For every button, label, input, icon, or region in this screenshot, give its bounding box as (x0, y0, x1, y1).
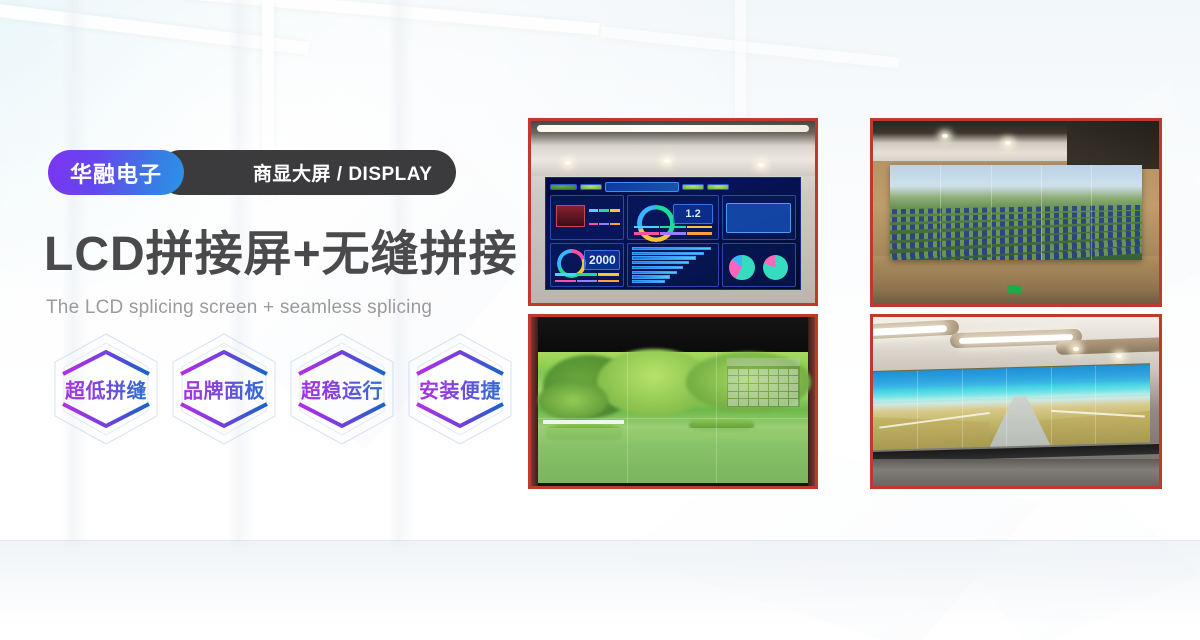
chart-legend (634, 225, 713, 237)
screen-side-bezel (808, 317, 815, 486)
dashboard-card-donut-kpi: 1.2 (627, 195, 718, 239)
pie-chart-group (725, 253, 792, 283)
photo-beach-boardwalk-video-wall (870, 314, 1162, 489)
feature-badge-3: 安装便捷 (401, 330, 519, 448)
ceiling-light-strip (537, 125, 810, 132)
sea-horizon (873, 382, 1150, 402)
calendar-title (727, 358, 800, 366)
dashboard-card-media (550, 195, 624, 239)
feature-badge-label: 超低拼缝 (47, 375, 165, 404)
video-wall-screen: 1.2 2000 (545, 177, 801, 290)
downlight (942, 134, 948, 138)
downlight (758, 163, 764, 167)
pie-chart (763, 255, 788, 280)
dashboard-tab (682, 184, 704, 190)
calendar-overlay (727, 358, 800, 407)
downlight (1005, 141, 1011, 145)
chart-legend (555, 272, 619, 284)
page-subtitle: The LCD splicing screen + seamless splic… (46, 297, 432, 319)
lakeside-railing (543, 420, 624, 424)
feature-badge-2: 超稳运行 (283, 330, 401, 448)
dashboard-header (550, 181, 796, 193)
page-title: LCD拼接屏+无缝拼接 (44, 228, 518, 282)
banner-copy-block: 商显大屏 / DISPLAY 华融电子 LCD拼接屏+无缝拼接 The LCD … (0, 0, 520, 640)
dashboard-tab (550, 184, 577, 190)
feature-badge-row: 超低拼缝 品牌面板 超稳运行 (47, 330, 519, 448)
ceiling-dark-panel (1067, 121, 1159, 169)
kpi-value: 1.2 (673, 204, 713, 224)
feature-badge-label: 品牌面板 (165, 375, 283, 404)
feature-badge-label: 超稳运行 (283, 375, 401, 404)
video-wall-screen (873, 363, 1150, 450)
photo-willow-lake-video-wall (528, 314, 818, 489)
dashboard-tab (707, 184, 729, 190)
video-wall-screen (890, 165, 1142, 260)
dashboard-title-bar (605, 182, 679, 192)
dashboard-card-flow (722, 195, 796, 239)
bar-chart (632, 247, 714, 284)
wall-above-screen (531, 317, 815, 352)
dashboard-card-bars (627, 243, 718, 288)
dashboard-card-grid: 1.2 2000 (550, 195, 796, 287)
photo-dashboard-video-wall: 1.2 2000 (528, 118, 818, 306)
video-wall-screen (538, 352, 808, 482)
pie-chart (729, 255, 754, 280)
dashboard-card-pies (722, 243, 796, 288)
ceiling (531, 121, 815, 176)
dashboard-tab (580, 184, 602, 190)
exit-sign-icon (1007, 285, 1021, 293)
lake-water (538, 428, 808, 483)
floor (873, 459, 1159, 486)
flow-diagram (726, 203, 791, 233)
feature-badge-label: 安装便捷 (401, 375, 519, 404)
brand-badge: 华融电子 (48, 150, 184, 195)
wood-wall-lower (873, 256, 1159, 304)
screen-side-bezel (531, 317, 538, 486)
brand-badge-row: 商显大屏 / DISPLAY 华融电子 (48, 150, 184, 195)
tree-foliage (538, 381, 608, 420)
dune-grass (873, 406, 990, 450)
ceiling-beam (735, 0, 746, 130)
video-wall-frame (890, 165, 1142, 260)
category-badge: 商显大屏 / DISPLAY (158, 150, 456, 195)
feature-badge-0: 超低拼缝 (47, 330, 165, 448)
solar-panel-array (890, 205, 1142, 260)
kpi-value-secondary: 2000 (584, 250, 620, 270)
photo-solar-farm-video-wall (870, 118, 1162, 307)
feature-badge-1: 品牌面板 (165, 330, 283, 448)
calendar-grid (728, 369, 798, 407)
dashboard-card-donut2-kpi: 2000 (550, 243, 624, 288)
